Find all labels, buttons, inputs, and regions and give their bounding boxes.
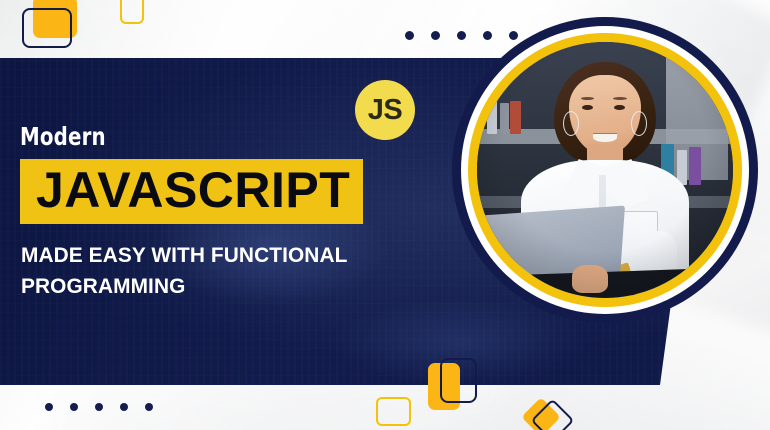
dot	[457, 31, 466, 40]
eyebrow-text: Modern	[20, 124, 372, 149]
photo-vignette	[477, 42, 733, 298]
dot-row-bottom	[45, 403, 153, 411]
title-highlight-bar: JAVASCRIPT	[20, 159, 363, 224]
dot-row-top	[405, 31, 518, 40]
portrait-photo-frame	[452, 17, 758, 323]
headline-block: Modern JAVASCRIPT MADE EASY WITH FUNCTIO…	[20, 124, 420, 301]
dot	[45, 403, 53, 411]
js-logo-badge-icon: JS	[355, 80, 415, 140]
dot	[483, 31, 492, 40]
js-badge-label: JS	[368, 96, 402, 125]
photo-ring-white	[461, 26, 749, 314]
javascript-course-banner: Modern JAVASCRIPT MADE EASY WITH FUNCTIO…	[0, 0, 770, 430]
dot	[509, 31, 518, 40]
subtitle-text: MADE EASY WITH FUNCTIONAL PROGRAMMING	[21, 240, 390, 301]
photo-ring-yellow	[468, 33, 742, 307]
dot	[95, 403, 103, 411]
decor-outlined-rounded-square-bottom-2	[440, 358, 477, 403]
decor-outlined-rounded-rect-topleft	[120, 0, 144, 24]
decor-outlined-rounded-square-bottom	[376, 397, 411, 426]
decor-outlined-rounded-square-topleft	[22, 8, 72, 48]
dot	[431, 31, 440, 40]
dot	[405, 31, 414, 40]
dot	[120, 403, 128, 411]
page-title: JAVASCRIPT	[36, 165, 350, 215]
dot	[70, 403, 78, 411]
portrait-photo	[477, 42, 733, 298]
dot	[145, 403, 153, 411]
